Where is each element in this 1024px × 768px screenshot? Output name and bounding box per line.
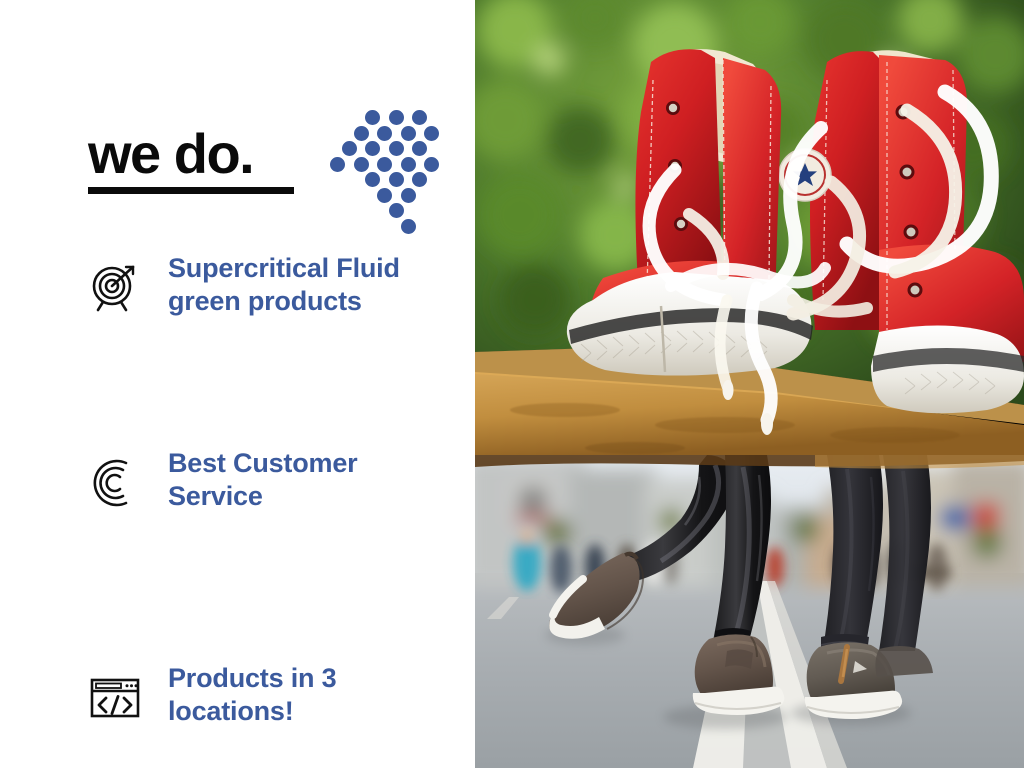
feature-row: Supercritical Fluid green products <box>86 252 466 338</box>
logo-dot <box>424 126 439 141</box>
logo-dot <box>424 157 439 172</box>
feature-label-line: locations! <box>168 695 464 728</box>
logo-dot <box>354 157 369 172</box>
image-column <box>475 0 1024 768</box>
logo-dot <box>365 110 380 125</box>
logo-dot <box>377 126 392 141</box>
feature-label: Best Customer Service <box>168 447 464 513</box>
logo-dot <box>412 110 427 125</box>
red-sneakers-photo <box>475 0 1024 455</box>
feature-label-line: green products <box>168 285 464 318</box>
logo-dot <box>401 157 416 172</box>
target-bullseye-icon <box>86 258 144 316</box>
brand-lockup: we do. <box>88 108 448 228</box>
feature-label-line: Best Customer <box>168 447 464 480</box>
logo-dot <box>330 157 345 172</box>
slide-canvas: we do. <box>0 0 1024 768</box>
logo-dot <box>401 126 416 141</box>
logo-dot <box>389 110 404 125</box>
brand-wordmark: we do. <box>88 124 294 184</box>
left-content-panel: we do. <box>0 0 475 768</box>
brand-underline-rule <box>88 187 294 194</box>
logo-dot <box>377 157 392 172</box>
ear-listening-icon <box>86 453 144 511</box>
brand-wordmark-group: we do. <box>88 124 294 194</box>
logo-dot <box>377 188 392 203</box>
feature-row: Products in 3 locations! <box>86 662 466 748</box>
logo-dot <box>412 172 427 187</box>
feature-label-line: Service <box>168 480 464 513</box>
street-legs-photo <box>475 455 1024 768</box>
logo-dot <box>342 141 357 156</box>
feature-label-line: Products in 3 <box>168 662 464 695</box>
logo-dot <box>401 219 416 234</box>
feature-label-line: Supercritical Fluid <box>168 252 464 285</box>
logo-dot <box>389 172 404 187</box>
logo-dot <box>389 203 404 218</box>
logo-dot <box>412 141 427 156</box>
feature-label: Products in 3 locations! <box>168 662 464 728</box>
logo-dot <box>401 188 416 203</box>
logo-dot <box>365 141 380 156</box>
logo-dot <box>389 141 404 156</box>
logo-dot <box>354 126 369 141</box>
logo-dot <box>365 172 380 187</box>
feature-row: Best Customer Service <box>86 447 466 533</box>
dot-triangle-logo-icon <box>328 108 446 226</box>
browser-code-icon <box>86 668 144 726</box>
feature-label: Supercritical Fluid green products <box>168 252 464 318</box>
